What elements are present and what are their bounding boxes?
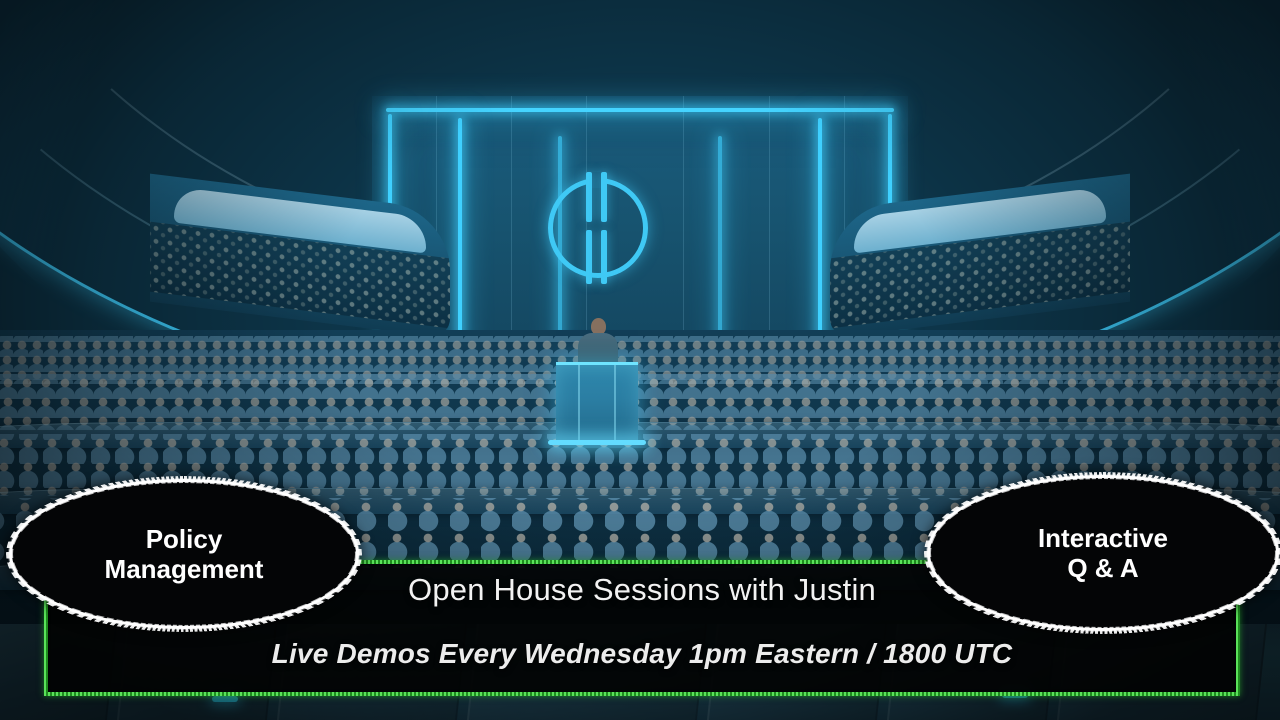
callout-interactive-qa: Interactive Q & A xyxy=(930,478,1276,628)
console-light-1 xyxy=(212,696,238,702)
banner-subline: Live Demos Every Wednesday 1pm Eastern /… xyxy=(48,638,1236,670)
circular-emblem-icon xyxy=(548,178,648,278)
video-frame: Open House Sessions with Justin Live Dem… xyxy=(0,0,1280,720)
callout-right-line2: Q & A xyxy=(1067,553,1138,583)
callout-right-line1: Interactive xyxy=(1038,523,1168,553)
callout-left-line2: Management xyxy=(105,554,264,584)
callout-policy-management: Policy Management xyxy=(12,482,356,626)
speaker-figure xyxy=(578,318,618,366)
speaker-podium xyxy=(556,362,638,440)
callout-left-line1: Policy xyxy=(146,524,223,554)
wall-neon-top xyxy=(386,108,894,112)
